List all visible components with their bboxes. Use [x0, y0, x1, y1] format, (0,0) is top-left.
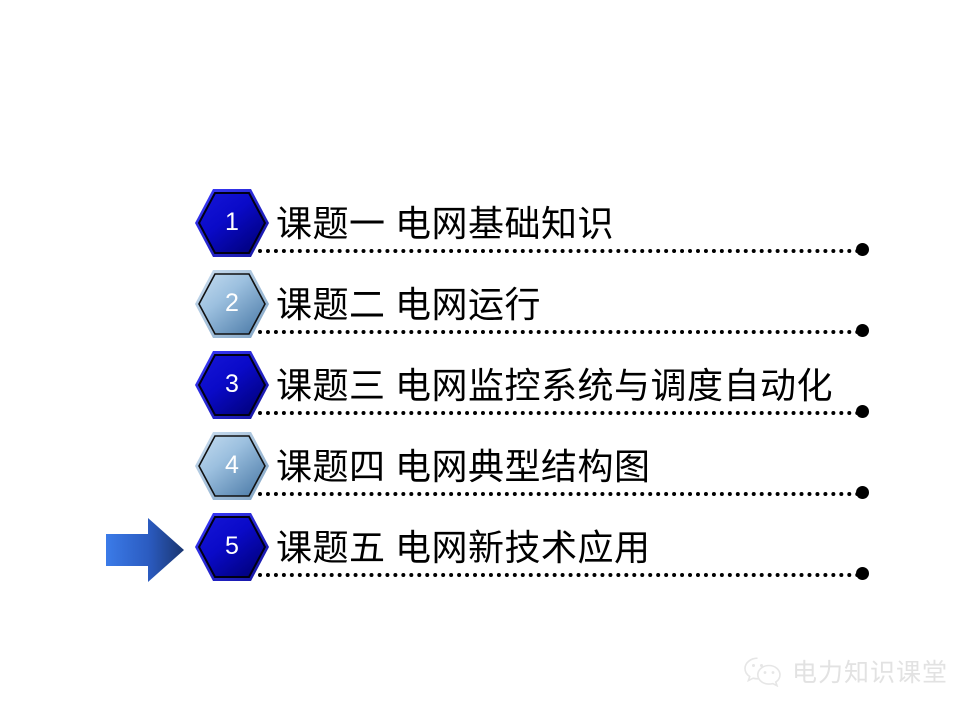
agenda-marker-1[interactable]: 1	[194, 187, 270, 259]
agenda-marker-2[interactable]: 2	[194, 268, 270, 340]
agenda-marker-number: 2	[194, 268, 270, 340]
agenda-marker-4[interactable]: 4	[194, 430, 270, 502]
agenda-marker-5[interactable]: 5	[194, 511, 270, 583]
agenda-marker-number: 4	[194, 430, 270, 502]
agenda-row-label: 课题三 电网监控系统与调度自动化	[276, 353, 833, 413]
agenda-row-label: 课题四 电网典型结构图	[276, 434, 651, 494]
agenda-marker-3[interactable]: 3	[194, 349, 270, 421]
agenda-row-label: 课题五 电网新技术应用	[276, 515, 651, 575]
agenda-row-3[interactable]: 3 课题三 电网监控系统与调度自动化	[0, 349, 960, 431]
watermark-label: 电力知识课堂	[792, 653, 948, 689]
agenda-row-label: 课题二 电网运行	[276, 272, 541, 332]
agenda-row-label: 课题一 电网基础知识	[276, 191, 614, 251]
agenda-row-2[interactable]: 2 课题二 电网运行	[0, 268, 960, 350]
slide-canvas: 1 课题一 电网基础知识	[0, 0, 960, 720]
agenda-marker-number: 1	[194, 187, 270, 259]
agenda-row-bullet	[856, 243, 869, 256]
agenda-list: 1 课题一 电网基础知识	[0, 0, 960, 720]
agenda-marker-number: 3	[194, 349, 270, 421]
agenda-row-bullet	[856, 486, 869, 499]
agenda-row-bullet	[856, 405, 869, 418]
agenda-row-bullet	[856, 324, 869, 337]
watermark: 电力知识课堂	[742, 648, 948, 694]
right-arrow-icon	[104, 516, 186, 584]
agenda-row-4[interactable]: 4 课题四 电网典型结构图	[0, 430, 960, 512]
agenda-marker-number: 5	[194, 511, 270, 583]
agenda-row-1[interactable]: 1 课题一 电网基础知识	[0, 187, 960, 269]
agenda-row-bullet	[856, 567, 869, 580]
wechat-icon	[742, 655, 784, 687]
